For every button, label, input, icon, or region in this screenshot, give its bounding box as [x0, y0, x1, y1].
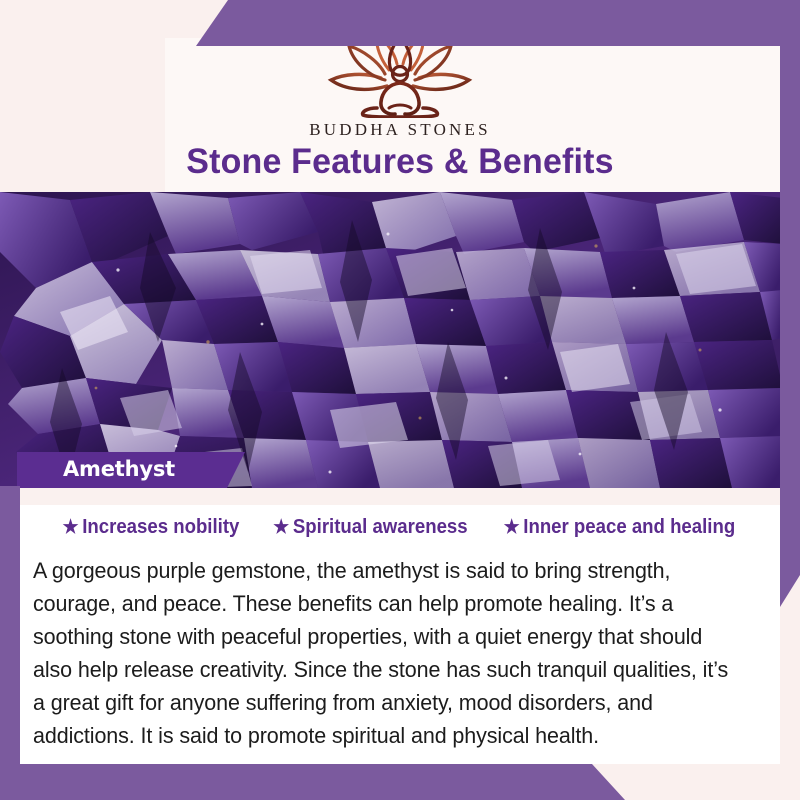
page-title: Stone Features & Benefits: [12, 142, 788, 182]
content-top-accent: [20, 488, 780, 505]
benefit-label: Spiritual awareness: [293, 516, 468, 539]
benefit-item-2: ★ Spiritual awareness: [273, 516, 467, 539]
star-icon: ★: [273, 518, 289, 537]
benefit-label: Inner peace and healing: [523, 516, 735, 539]
star-icon: ★: [504, 518, 520, 537]
frame-right-accent: [780, 0, 800, 607]
amethyst-photo: [0, 192, 783, 488]
frame-left-accent: [0, 486, 20, 800]
star-icon: ★: [63, 518, 79, 537]
benefit-item-3: ★ Inner peace and healing: [504, 516, 735, 539]
brand-name: BUDDHA STONES: [0, 120, 800, 140]
brand-logo: BUDDHA STONES: [0, 30, 800, 140]
stone-features-infographic: BUDDHA STONES Stone Features & Benefits: [0, 0, 800, 800]
benefit-label: Increases nobility: [82, 516, 239, 539]
stone-name-label: Amethyst: [17, 459, 175, 480]
content-panel: ★ Increases nobility ★ Spiritual awarene…: [20, 488, 780, 764]
stone-name-banner: Amethyst: [17, 452, 245, 488]
frame-bottom-accent: [0, 764, 800, 800]
benefit-item-1: ★ Increases nobility: [63, 516, 240, 539]
stone-description: A gorgeous purple gemstone, the amethyst…: [33, 554, 740, 752]
benefits-list: ★ Increases nobility ★ Spiritual awarene…: [20, 516, 780, 539]
amethyst-crystal-cluster-graphic: [0, 192, 783, 488]
